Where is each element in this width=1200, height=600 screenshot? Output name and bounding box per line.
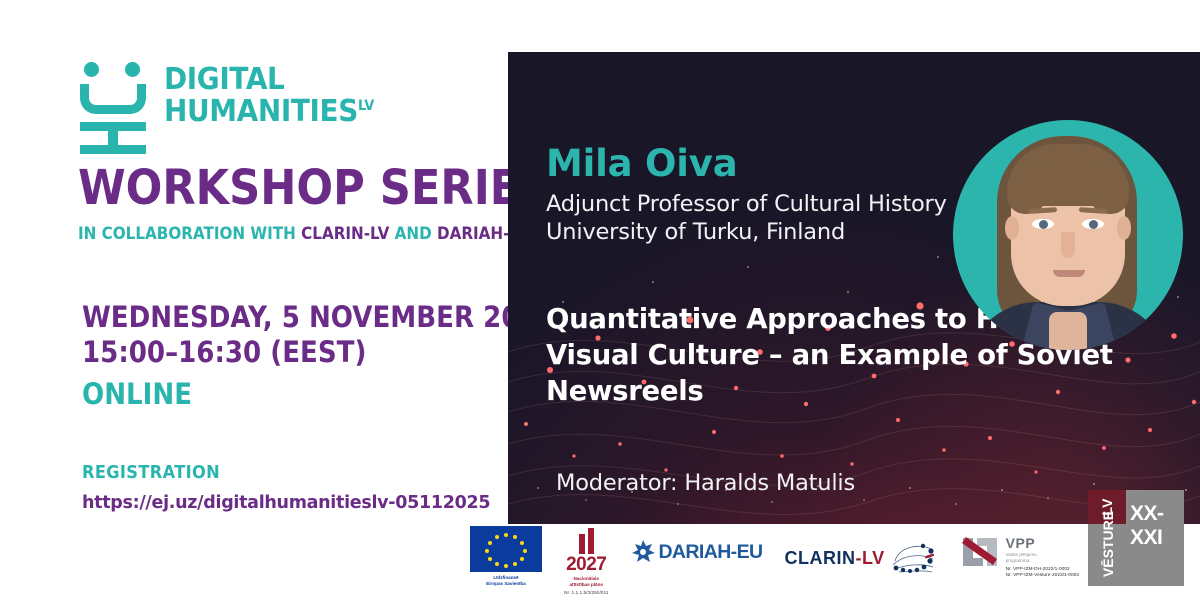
collab-prefix: IN COLLABORATION WITH xyxy=(78,224,301,243)
vpp-title: VPP xyxy=(1006,536,1079,550)
vesture-roman-numerals: XX-XXI xyxy=(1130,502,1184,550)
brand-lockup: DIGITAL HUMANITIESLV WORKSHOP SERIES IN … xyxy=(78,62,478,243)
speaker-dark-panel: Mila Oiva Adjunct Professor of Cultural … xyxy=(508,52,1200,524)
nap-2027-logo: 2027 Nacionālais attīstības plāns Nr. 1.… xyxy=(564,526,608,596)
clarin-lv-label: CLARIN-LV xyxy=(784,548,884,569)
logo-row: DIGITAL HUMANITIESLV xyxy=(78,62,478,154)
vpp-logo: VPP Valsts pētījumu programma Nr. VPP-IZ… xyxy=(959,526,1079,580)
left-info-panel: DIGITAL HUMANITIESLV WORKSHOP SERIES IN … xyxy=(0,0,508,600)
speaker-portrait-image xyxy=(953,120,1183,350)
registration-block: REGISTRATION https://ej.uz/digitalhumani… xyxy=(82,462,502,513)
registration-link[interactable]: https://ej.uz/digitalhumanitieslv-051120… xyxy=(82,493,502,513)
dh-monogram-icon xyxy=(78,62,150,154)
event-date-block: WEDNESDAY, 5 NOVEMBER 2025 15:00–16:30 (… xyxy=(82,300,492,412)
speaker-name: Mila Oiva xyxy=(546,142,737,185)
event-time: 15:00–16:30 (EEST) xyxy=(82,335,451,370)
page-title: WORKSHOP SERIES xyxy=(78,164,438,212)
footer-logo-bar: Līdzfinansē Eiropas Savienība 2027 Nacio… xyxy=(0,524,1200,600)
clarin-network-icon xyxy=(889,541,937,575)
nap-year: 2027 xyxy=(566,555,606,574)
vpp-mark-icon xyxy=(959,532,1001,572)
eu-flag-icon xyxy=(470,526,542,572)
vesture-word-text: VĒSTURE xyxy=(1100,508,1116,580)
dariah-flower-icon xyxy=(630,539,656,565)
wordmark-line-humanities: HUMANITIESLV xyxy=(164,96,374,128)
wordmark-superscript-lv: LV xyxy=(358,98,374,114)
nap-caption-line2: attīstības plāns xyxy=(570,582,603,588)
event-date: WEDNESDAY, 5 NOVEMBER 2025 xyxy=(82,300,451,335)
moderator-line: Moderator: Haralds Matulis xyxy=(556,470,855,496)
speaker-affiliation: Adjunct Professor of Cultural History Un… xyxy=(546,190,947,246)
dariah-eu-label: DARIAH-EU xyxy=(658,541,762,564)
footer-logos: Līdzfinansē Eiropas Savienība 2027 Nacio… xyxy=(470,526,1079,596)
speaker-university-line: University of Turku, Finland xyxy=(546,218,947,246)
nap-caption: Nacionālais attīstības plāns xyxy=(570,576,603,587)
clarin-lv-logo: CLARIN-LV xyxy=(784,526,936,575)
vesture-lv-badge: LV VĒSTURE XX-XXI xyxy=(1088,490,1184,586)
avatar xyxy=(953,120,1183,350)
speaker-role-line: Adjunct Professor of Cultural History xyxy=(546,190,947,218)
collab-mid: AND xyxy=(389,224,437,243)
collaboration-line: IN COLLABORATION WITH CLARIN-LV AND DARI… xyxy=(78,224,446,243)
nap-bars-icon xyxy=(579,528,594,554)
clarin-text: CLARIN xyxy=(784,548,855,568)
vpp-sub-line2: programma xyxy=(1006,558,1079,564)
registration-label: REGISTRATION xyxy=(82,462,460,483)
event-mode: ONLINE xyxy=(82,377,451,412)
vpp-text-block: VPP Valsts pētījumu programma Nr. VPP-IZ… xyxy=(1006,532,1079,580)
dariah-eu-logo: DARIAH-EU xyxy=(630,526,762,565)
wordmark: DIGITAL HUMANITIESLV xyxy=(164,62,390,128)
collab-partner-clarin: CLARIN-LV xyxy=(301,224,389,243)
vpp-nr-line2: Nr. VPP-IZM-Vesture-2023/1-0003 xyxy=(1006,573,1079,579)
eu-caption-line2: Eiropas Savienība xyxy=(486,581,526,587)
clarin-lv-suffix: -LV xyxy=(855,548,884,568)
vpp-subtitle: Valsts pētījumu programma xyxy=(1006,552,1079,564)
nap-project-number: Nr. 1.1.1.5/3/25/I/011 xyxy=(564,591,608,596)
eu-flag-caption: Līdzfinansē Eiropas Savienība xyxy=(486,575,526,586)
vpp-project-numbers: Nr. VPP-IZM-DH-2022/1-0002 Nr. VPP-IZM-V… xyxy=(1006,567,1079,580)
wordmark-line-digital: DIGITAL xyxy=(164,64,374,96)
nap-caption-line1: Nacionālais xyxy=(570,576,603,582)
eu-flag-logo: Līdzfinansē Eiropas Savienība xyxy=(470,526,542,586)
wordmark-humanities-text: HUMANITIES xyxy=(164,94,358,129)
